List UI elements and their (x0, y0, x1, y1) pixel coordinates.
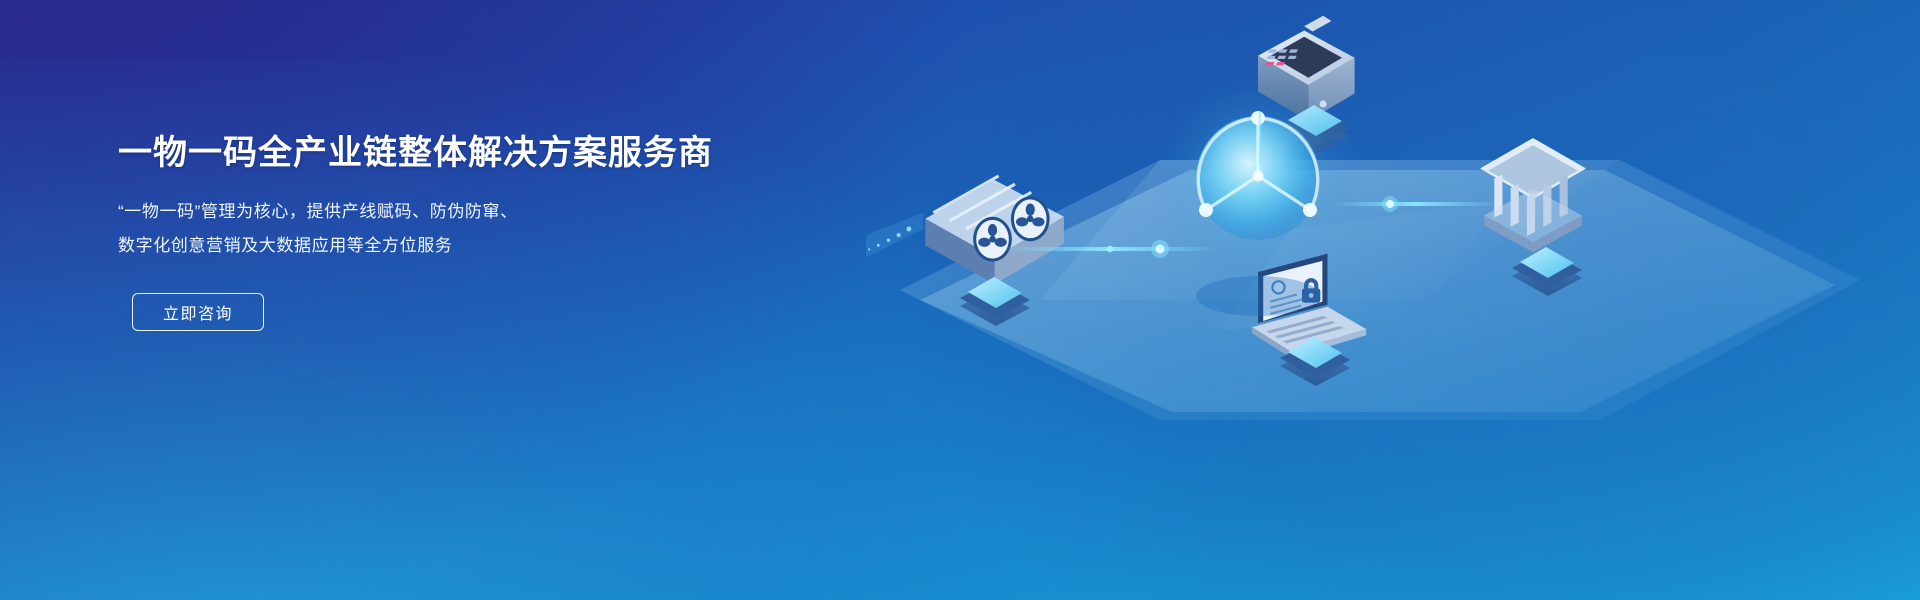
particle-cone (866, 213, 923, 258)
hero-banner: 一物一码全产业链整体解决方案服务商 “一物一码”管理为核心，提供产线赋码、防伪防… (0, 0, 1920, 600)
subtitle-line-1: “一物一码”管理为核心，提供产线赋码、防伪防窜、 (118, 195, 818, 229)
hero-subtitle: “一物一码”管理为核心，提供产线赋码、防伪防窜、 数字化创意营销及大数据应用等全… (118, 195, 818, 263)
consult-now-button[interactable]: 立即咨询 (132, 293, 264, 331)
hero-copy: 一物一码全产业链整体解决方案服务商 “一物一码”管理为核心，提供产线赋码、防伪防… (118, 132, 818, 331)
page-title: 一物一码全产业链整体解决方案服务商 (118, 132, 818, 175)
hero-illustration (860, 0, 1920, 600)
subtitle-line-2: 数字化创意营销及大数据应用等全方位服务 (118, 229, 818, 263)
